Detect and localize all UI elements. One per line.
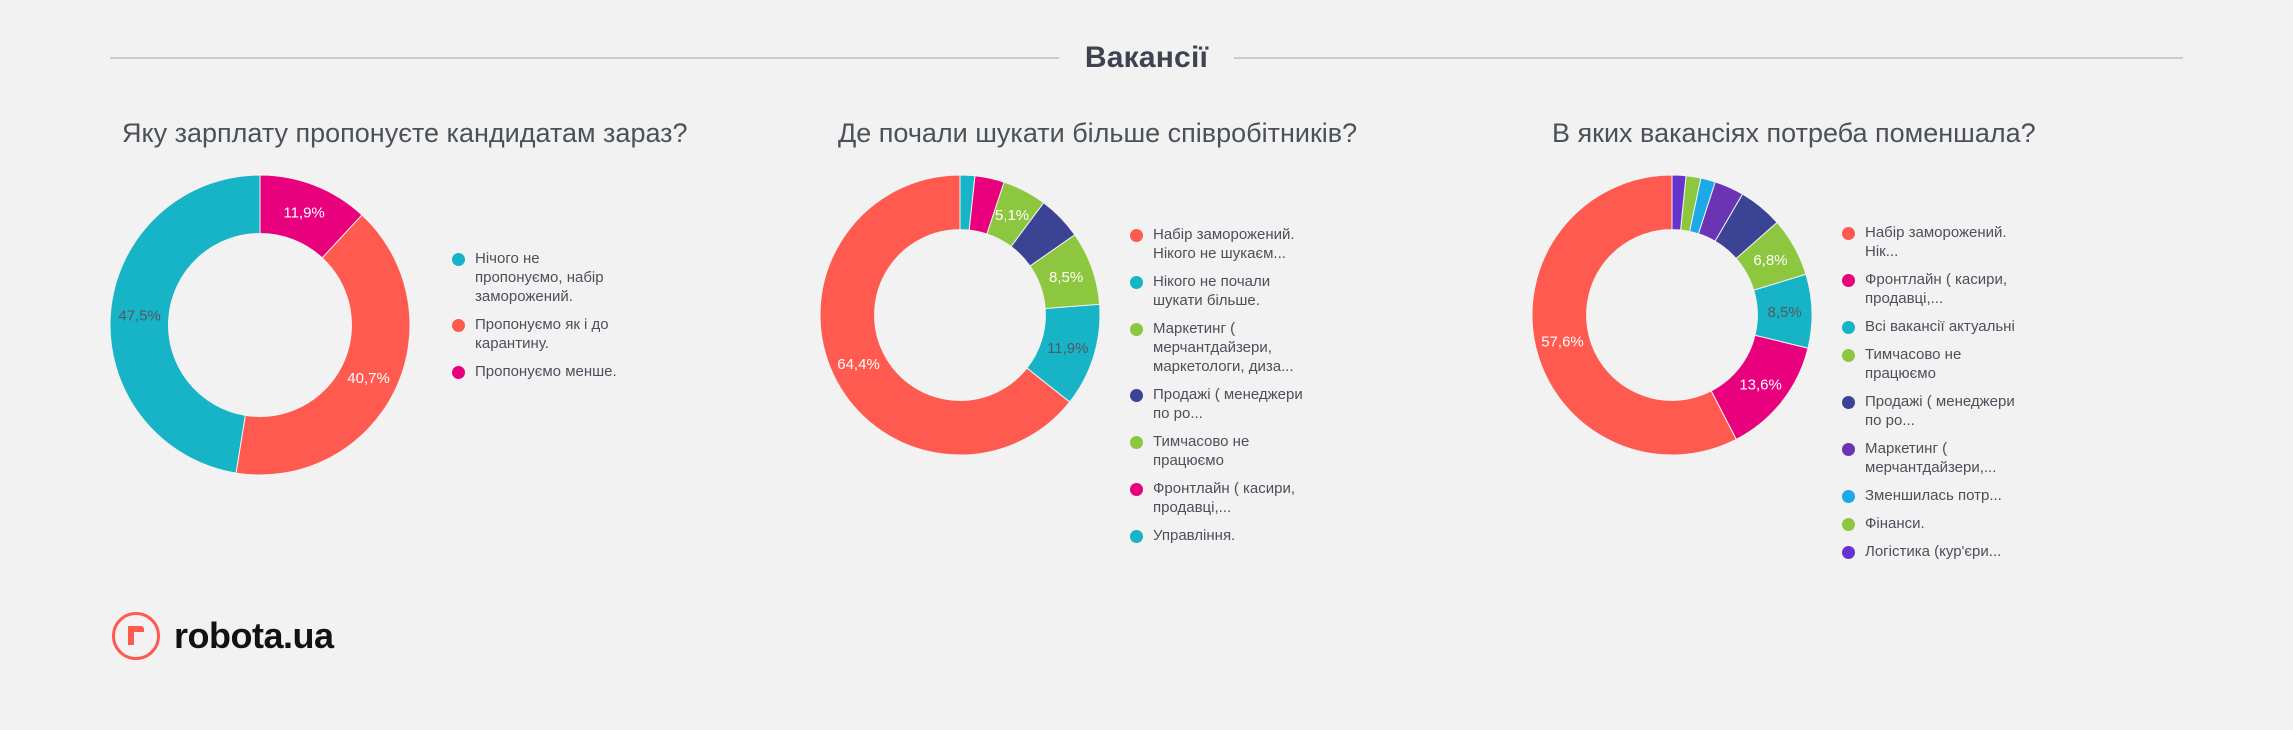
chart-legend-salary: Нічого не пропонуємо, набір заморожений.… [452,249,627,390]
legend-color-dot-icon [452,366,465,379]
legend-color-dot-icon [1842,518,1855,531]
chart-panel-demand: В яких вакансіях потреба поменшала? 57,6… [1510,118,2293,638]
legend-color-dot-icon [1842,490,1855,503]
legend-label: Управління. [1153,526,1235,545]
slice-value-label: 8,5% [1049,269,1083,286]
legend-color-dot-icon [1842,396,1855,409]
legend-item[interactable]: Фронтлайн ( касири, продавці,... [1130,479,1305,517]
legend-label: Логістика (кур'єри... [1865,542,2001,561]
slice-value-label: 47,5% [118,307,161,324]
legend-color-dot-icon [1842,349,1855,362]
legend-label: Набір заморожений. Нікого не шукаєм... [1153,225,1305,263]
legend-color-dot-icon [1130,530,1143,543]
legend-color-dot-icon [1130,276,1143,289]
legend-item[interactable]: Всі вакансії актуальні [1842,317,2017,336]
legend-color-dot-icon [1130,323,1143,336]
chart-body: 57,6%13,6%8,5%6,8%Набір заморожений. Нік… [1510,175,2293,570]
legend-color-dot-icon [1842,321,1855,334]
donut-chart-salary[interactable]: 47,5%40,7%11,9% [110,175,410,475]
brand-name: robota.ua [174,615,334,657]
legend-item[interactable]: Маркетинг ( мерчантдайзери, маркетологи,… [1130,319,1305,376]
chart-legend-hiring: Набір заморожений. Нікого не шукаєм...Ні… [1130,225,1305,554]
chart-panel-hiring: Де почали шукати більше співробітників? … [790,118,1510,638]
robota-circle-r-icon [112,612,160,660]
legend-label: Набір заморожений. Нік... [1865,223,2017,261]
legend-item[interactable]: Набір заморожений. Нікого не шукаєм... [1130,225,1305,263]
slice-value-label: 11,9% [283,205,324,222]
legend-item[interactable]: Пропонуємо менше. [452,362,627,381]
legend-label: Тимчасово не працюємо [1865,345,2017,383]
robota-ua-logo[interactable]: robota.ua [112,612,334,660]
legend-label: Продажі ( менеджери по ро... [1865,392,2017,430]
slice-value-label: 13,6% [1739,377,1782,394]
chart-title: Де почали шукати більше співробітників? [838,118,1510,149]
slice-value-label: 11,9% [1047,340,1088,357]
legend-color-dot-icon [1842,546,1855,559]
legend-item[interactable]: Продажі ( менеджери по ро... [1130,385,1305,423]
legend-label: Всі вакансії актуальні [1865,317,2015,336]
legend-color-dot-icon [1130,436,1143,449]
legend-item[interactable]: Управління. [1130,526,1305,545]
legend-item[interactable]: Тимчасово не працюємо [1130,432,1305,470]
legend-label: Пропонуємо менше. [475,362,617,381]
slice-value-label: 64,4% [837,356,880,373]
donut-chart-demand[interactable]: 57,6%13,6%8,5%6,8% [1532,175,1812,455]
legend-label: Нікого не почали шукати більше. [1153,272,1305,310]
slice-value-label: 5,1% [995,207,1029,224]
charts-row: Яку зарплату пропонуєте кандидатам зараз… [0,118,2293,638]
legend-label: Зменшилась потр... [1865,486,2002,505]
legend-item[interactable]: Тимчасово не працюємо [1842,345,2017,383]
legend-item[interactable]: Зменшилась потр... [1842,486,2017,505]
slice-value-label: 57,6% [1541,334,1584,351]
chart-title: В яких вакансіях потреба поменшала? [1552,118,2293,149]
legend-label: Фронтлайн ( касири, продавці,... [1865,270,2017,308]
header-rule-right [1234,57,2183,59]
slice-value-label: 40,7% [347,370,390,387]
legend-item[interactable]: Набір заморожений. Нік... [1842,223,2017,261]
page-header: Вакансії [0,36,2293,80]
legend-item[interactable]: Пропонуємо як і до карантину. [452,315,627,353]
legend-label: Продажі ( менеджери по ро... [1153,385,1305,423]
legend-item[interactable]: Маркетинг ( мерчантдайзери,... [1842,439,2017,477]
legend-color-dot-icon [1842,274,1855,287]
legend-label: Фінанси. [1865,514,1925,533]
legend-item[interactable]: Логістика (кур'єри... [1842,542,2017,561]
legend-color-dot-icon [1842,227,1855,240]
page-title: Вакансії [1085,41,1208,75]
header-rule-left [110,57,1059,59]
slice-value-label: 6,8% [1753,252,1787,269]
slice-value-label: 8,5% [1768,304,1802,321]
legend-item[interactable]: Фінанси. [1842,514,2017,533]
legend-label: Тимчасово не працюємо [1153,432,1305,470]
legend-label: Пропонуємо як і до карантину. [475,315,627,353]
legend-item[interactable]: Нікого не почали шукати більше. [1130,272,1305,310]
chart-body: 64,4%11,9%8,5%5,1%Набір заморожений. Нік… [790,175,1510,554]
donut-chart-hiring[interactable]: 64,4%11,9%8,5%5,1% [820,175,1100,455]
legend-item[interactable]: Фронтлайн ( касири, продавці,... [1842,270,2017,308]
legend-label: Маркетинг ( мерчантдайзери,... [1865,439,2017,477]
legend-label: Фронтлайн ( касири, продавці,... [1153,479,1305,517]
legend-label: Нічого не пропонуємо, набір заморожений. [475,249,627,306]
chart-panel-salary: Яку зарплату пропонуєте кандидатам зараз… [0,118,790,638]
legend-item[interactable]: Продажі ( менеджери по ро... [1842,392,2017,430]
chart-title: Яку зарплату пропонуєте кандидатам зараз… [122,118,790,149]
legend-color-dot-icon [1130,389,1143,402]
legend-color-dot-icon [1842,443,1855,456]
legend-label: Маркетинг ( мерчантдайзери, маркетологи,… [1153,319,1305,376]
legend-item[interactable]: Нічого не пропонуємо, набір заморожений. [452,249,627,306]
legend-color-dot-icon [1130,483,1143,496]
chart-legend-demand: Набір заморожений. Нік...Фронтлайн ( кас… [1842,223,2017,570]
legend-color-dot-icon [452,253,465,266]
legend-color-dot-icon [452,319,465,332]
legend-color-dot-icon [1130,229,1143,242]
